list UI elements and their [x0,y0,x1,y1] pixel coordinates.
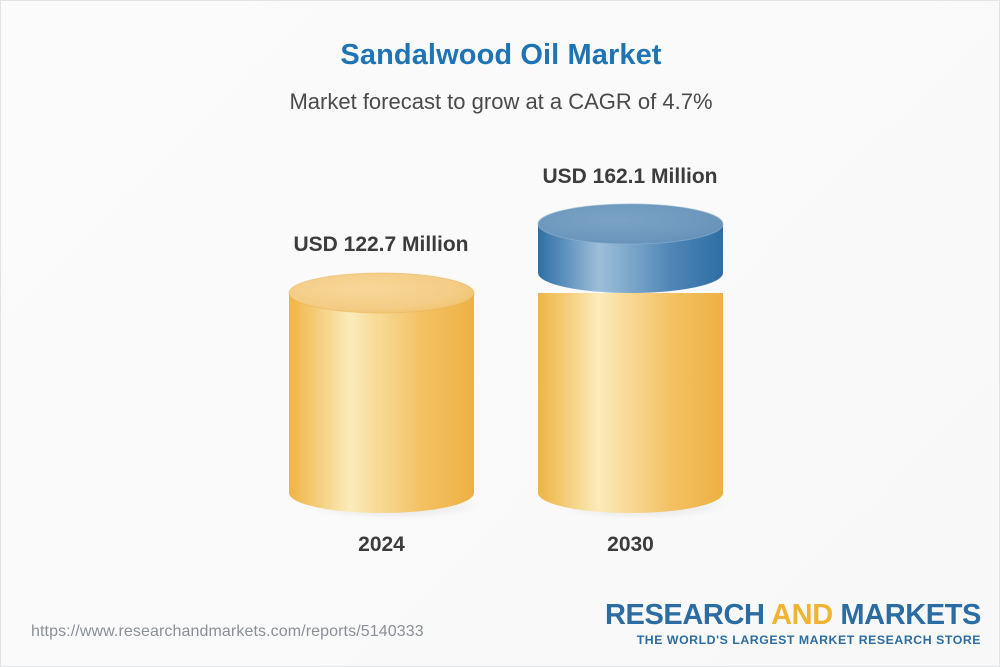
cylinder-bar-2024 [289,273,474,518]
research-and-markets-logo[interactable]: RESEARCH AND MARKETS THE WORLD'S LARGEST… [605,601,981,647]
bar-segment-gold [538,264,723,513]
value-label-2030: USD 162.1 Million [528,165,732,189]
category-label-2024: 2024 [289,533,474,557]
chart-plot-area: USD 122.7 Million USD 162.1 Million 2024… [1,1,1000,601]
infographic-canvas: Sandalwood Oil Market Market forecast to… [0,0,1000,667]
source-url[interactable]: https://www.researchandmarkets.com/repor… [31,623,424,641]
value-label-2024: USD 122.7 Million [279,233,483,257]
bar-body-gold [289,293,474,513]
logo-text-and: AND [771,599,833,631]
logo-wordmark: RESEARCH AND MARKETS [605,601,981,631]
logo-text-markets: MARKETS [833,599,981,631]
logo-tagline: THE WORLD'S LARGEST MARKET RESEARCH STOR… [605,633,981,648]
logo-text-research: RESEARCH [605,599,771,631]
cylinder-bar-2030 [538,204,723,518]
category-label-2030: 2030 [538,533,723,557]
